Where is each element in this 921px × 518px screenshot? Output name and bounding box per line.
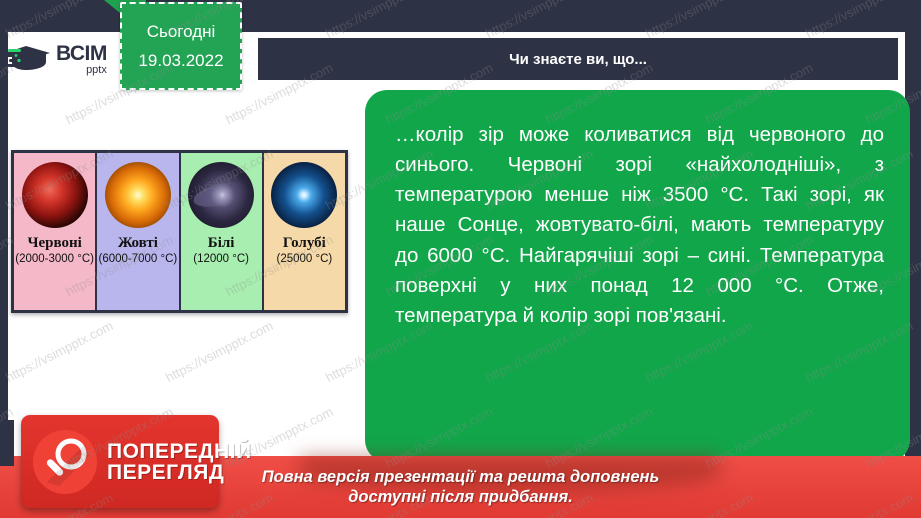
left-dark-stub bbox=[0, 420, 14, 466]
star-color-temperature-chart: Червоні (2000-3000 °C) Жовті (6000-7000 … bbox=[11, 150, 348, 313]
preview-badge-label: ПОПЕРЕДНІЙ ПЕРЕГЛЯД bbox=[107, 441, 252, 483]
brand-suffix: pptx bbox=[56, 65, 107, 76]
brand-logo: ВСІМ pptx bbox=[6, 36, 126, 82]
star-temperature: (2000-3000 °C) bbox=[15, 253, 94, 265]
preview-badge: ПОПЕРЕДНІЙ ПЕРЕГЛЯД bbox=[21, 415, 219, 508]
brand-name: ВСІМ bbox=[56, 43, 107, 64]
graduation-cap-icon bbox=[6, 42, 52, 76]
star-label: Білі bbox=[208, 236, 235, 251]
white-star-image bbox=[188, 162, 254, 228]
preview-badge-line1: ПОПЕРЕДНІЙ bbox=[107, 441, 252, 462]
star-temperature: (25000 °C) bbox=[277, 253, 333, 265]
star-temperature: (12000 °C) bbox=[193, 253, 249, 265]
preview-badge-line2: ПЕРЕГЛЯД bbox=[107, 462, 252, 483]
today-date-value: 19.03.2022 bbox=[138, 51, 223, 71]
red-star-image bbox=[22, 162, 88, 228]
magnifier-icon bbox=[33, 430, 97, 494]
star-temperature: (6000-7000 °C) bbox=[98, 253, 177, 265]
star-column-yellow: Жовті (6000-7000 °C) bbox=[97, 153, 180, 310]
slide-canvas: ВСІМ pptx Сьогодні 19.03.2022 Чи знаєте … bbox=[0, 0, 921, 518]
yellow-star-image bbox=[105, 162, 171, 228]
today-label: Сьогодні bbox=[147, 22, 216, 42]
page-title: Чи знаєте ви, що... bbox=[509, 51, 647, 68]
footer-line-1: Повна версія презентації та решта доповн… bbox=[262, 467, 660, 487]
content-body-text: …колір зір може коливатися від червоного… bbox=[395, 120, 884, 331]
content-panel: …колір зір може коливатися від червоного… bbox=[365, 90, 910, 462]
brand-logo-text: ВСІМ pptx bbox=[56, 43, 107, 76]
slide-header-bar: Чи знаєте ви, що... bbox=[258, 38, 898, 80]
star-label: Голубі bbox=[283, 236, 326, 251]
star-column-white: Білі (12000 °C) bbox=[181, 153, 264, 310]
star-label: Жовті bbox=[118, 236, 158, 251]
star-column-red: Червоні (2000-3000 °C) bbox=[14, 153, 97, 310]
footer-line-2: доступні після придбання. bbox=[348, 487, 573, 507]
star-column-blue: Голубі (25000 °C) bbox=[264, 153, 345, 310]
today-date-badge: Сьогодні 19.03.2022 bbox=[120, 2, 242, 90]
blue-star-image bbox=[271, 162, 337, 228]
star-label: Червоні bbox=[27, 236, 81, 251]
